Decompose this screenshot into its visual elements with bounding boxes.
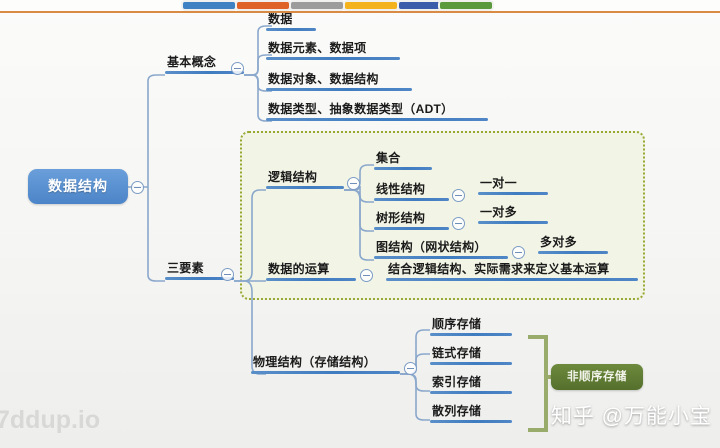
node-one-to-one-label: 一对一 [478, 177, 548, 192]
node-sequential-storage-label: 顺序存储 [430, 318, 512, 333]
swatch-orange[interactable] [237, 2, 289, 9]
node-underline [266, 278, 356, 281]
node-linked-storage-label: 链式存储 [430, 347, 512, 362]
toggle-basic-concepts[interactable] [231, 62, 244, 75]
node-logical-structure[interactable]: 逻辑结构 [266, 171, 344, 189]
node-underline [430, 420, 512, 423]
node-underline [374, 167, 432, 170]
node-operations-detail-label: 结合逻辑结构、实际需求来定义基本运算 [386, 263, 638, 278]
node-linked-storage[interactable]: 链式存储 [430, 347, 512, 365]
node-graph-structure[interactable]: 图结构（网状结构） [374, 241, 508, 259]
node-index-storage-label: 索引存储 [430, 376, 512, 391]
toggle-root[interactable] [131, 181, 144, 194]
node-underline [251, 371, 400, 374]
node-logical-structure-label: 逻辑结构 [266, 171, 344, 186]
swatch-green[interactable] [440, 2, 492, 9]
mindmap-canvas: 数据结构 基本概念 数据 数据元素、数据项 数据对象、数据结构 数据类型、抽象数… [0, 0, 720, 448]
node-one-to-many[interactable]: 一对多 [478, 206, 548, 224]
toggle-linear-structure[interactable] [452, 189, 465, 202]
node-underline [478, 221, 548, 224]
node-underline [266, 28, 316, 31]
node-tree-structure-label: 树形结构 [374, 212, 449, 227]
node-hash-storage[interactable]: 散列存储 [430, 405, 512, 423]
node-underline [478, 192, 548, 195]
root-node-label: 数据结构 [28, 169, 128, 204]
node-underline [266, 57, 400, 60]
swatch-gray[interactable] [291, 2, 343, 9]
node-many-to-many-label: 多对多 [538, 236, 608, 251]
toggle-graph-structure[interactable] [512, 246, 525, 259]
node-hash-storage-label: 散列存储 [430, 405, 512, 420]
node-underline [266, 186, 344, 189]
node-one-to-many-label: 一对多 [478, 206, 548, 221]
node-data-label: 数据 [266, 13, 316, 28]
node-one-to-one[interactable]: 一对一 [478, 177, 548, 195]
node-non-sequential-storage-label: 非顺序存储 [551, 364, 643, 390]
node-operations-detail[interactable]: 结合逻辑结构、实际需求来定义基本运算 [386, 263, 638, 281]
node-set-label: 集合 [374, 152, 432, 167]
toggle-three-elements[interactable] [221, 268, 234, 281]
node-underline [266, 118, 488, 121]
node-sequential-storage[interactable]: 顺序存储 [430, 318, 512, 336]
node-non-sequential-storage[interactable]: 非顺序存储 [551, 364, 643, 390]
node-underline [374, 227, 449, 230]
node-underline [374, 256, 508, 259]
toggle-logical-structure[interactable] [347, 177, 360, 190]
root-node-data-structure[interactable]: 数据结构 [28, 169, 128, 204]
toggle-tree-structure[interactable] [452, 217, 465, 230]
swatch-blue[interactable] [183, 2, 235, 9]
node-data-operations[interactable]: 数据的运算 [266, 263, 356, 281]
watermark-right: 知乎 @万能小宝 [551, 400, 712, 430]
node-underline [430, 333, 512, 336]
top-toolbar [0, 0, 720, 13]
node-underline [430, 362, 512, 365]
watermark-left: 7ddup.io [0, 406, 100, 435]
node-underline [386, 278, 638, 281]
node-index-storage[interactable]: 索引存储 [430, 376, 512, 394]
node-data-operations-label: 数据的运算 [266, 263, 356, 278]
node-underline [430, 391, 512, 394]
node-set[interactable]: 集合 [374, 152, 432, 170]
node-physical-structure[interactable]: 物理结构（存储结构） [251, 356, 400, 374]
node-underline [538, 251, 608, 254]
node-data-type-adt-label: 数据类型、抽象数据类型（ADT） [266, 103, 488, 118]
node-physical-structure-label: 物理结构（存储结构） [251, 356, 400, 371]
swatch-yellow[interactable] [345, 2, 397, 9]
node-graph-structure-label: 图结构（网状结构） [374, 241, 508, 256]
node-data-element-item[interactable]: 数据元素、数据项 [266, 42, 400, 60]
node-tree-structure[interactable]: 树形结构 [374, 212, 449, 230]
node-data-type-adt[interactable]: 数据类型、抽象数据类型（ADT） [266, 103, 488, 121]
toggle-data-operations[interactable] [360, 269, 373, 282]
toggle-physical-structure[interactable] [404, 362, 417, 375]
node-data-element-item-label: 数据元素、数据项 [266, 42, 400, 57]
node-linear-structure[interactable]: 线性结构 [374, 183, 449, 201]
node-underline [374, 198, 449, 201]
node-many-to-many[interactable]: 多对多 [538, 236, 608, 254]
node-underline [266, 88, 412, 91]
node-data-object-structure[interactable]: 数据对象、数据结构 [266, 73, 412, 91]
node-linear-structure-label: 线性结构 [374, 183, 449, 198]
node-data[interactable]: 数据 [266, 13, 316, 31]
node-data-object-structure-label: 数据对象、数据结构 [266, 73, 412, 88]
